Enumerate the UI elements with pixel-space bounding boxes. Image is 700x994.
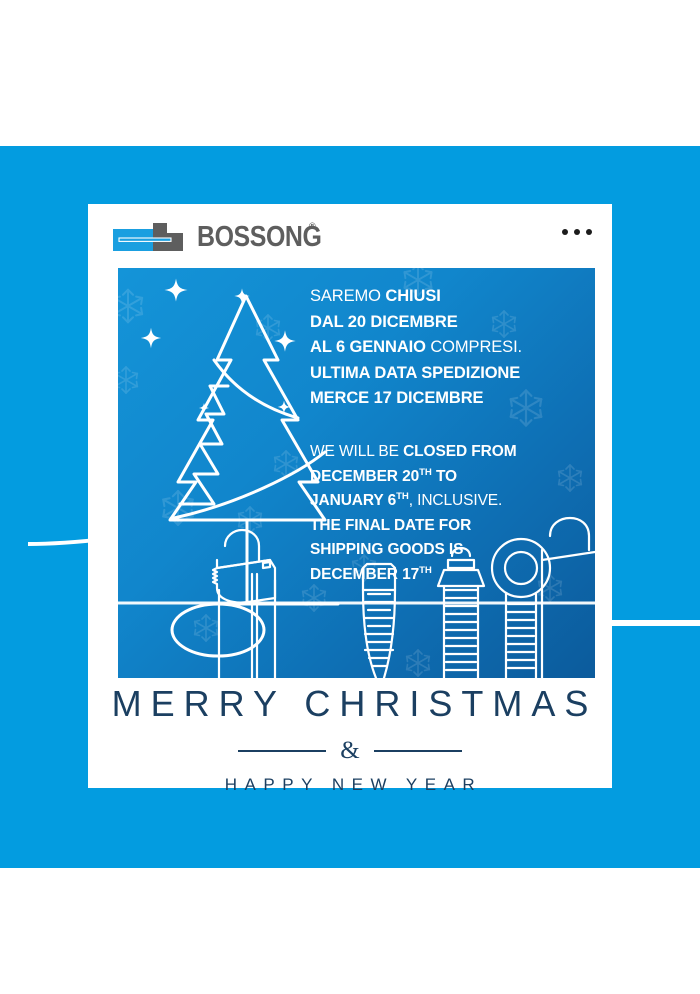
illustration-panel: SAREMO CHIUSI DAL 20 DICEMBRE AL 6 GENNA… [118, 268, 595, 678]
card-header: BOSSONG ® [88, 204, 612, 268]
greeting-divider: & [88, 738, 612, 763]
decorative-line-right [612, 620, 700, 626]
poster-stage: BOSSONG ® [0, 0, 700, 994]
bossong-anchor-logo-icon [113, 223, 191, 253]
more-options-icon[interactable] [562, 226, 592, 238]
brand-logo[interactable]: BOSSONG ® [113, 219, 323, 255]
greeting-block: MERRY CHRISTMAS & HAPPY NEW YEAR [88, 682, 612, 795]
post-card: BOSSONG ® [88, 204, 612, 788]
divider-rule-right [374, 750, 462, 752]
msg-en-line2: DECEMBER 20TH TO [310, 465, 595, 490]
closure-message-italian: SAREMO CHIUSI DAL 20 DICEMBRE AL 6 GENNA… [310, 284, 595, 412]
greeting-main-title: MERRY CHRISTMAS [88, 682, 612, 726]
closure-message-english: WE WILL BE CLOSED FROM DECEMBER 20TH TO … [310, 440, 595, 587]
greeting-ampersand: & [340, 738, 359, 763]
registered-trademark-icon: ® [309, 221, 316, 231]
msg-en-line1: WE WILL BE CLOSED FROM [310, 440, 595, 465]
divider-rule-left [238, 750, 326, 752]
msg-en-line5: SHIPPING GOODS IS [310, 538, 595, 563]
msg-en-line3: JANUARY 6TH, INCLUSIVE. [310, 489, 595, 514]
msg-it-line4: ULTIMA DATA SPEDIZIONE [310, 361, 595, 387]
msg-en-line4: THE FINAL DATE FOR [310, 514, 595, 539]
msg-it-line2: DAL 20 DICEMBRE [310, 310, 595, 336]
brand-wordmark: BOSSONG [197, 220, 321, 254]
greeting-subtitle: HAPPY NEW YEAR [88, 775, 612, 795]
msg-it-line5: MERCE 17 DICEMBRE [310, 386, 595, 412]
msg-it-line1: SAREMO CHIUSI [310, 284, 595, 310]
msg-en-line6: DECEMBER 17TH [310, 563, 595, 588]
msg-it-line3: AL 6 GENNAIO COMPRESI. [310, 335, 595, 361]
